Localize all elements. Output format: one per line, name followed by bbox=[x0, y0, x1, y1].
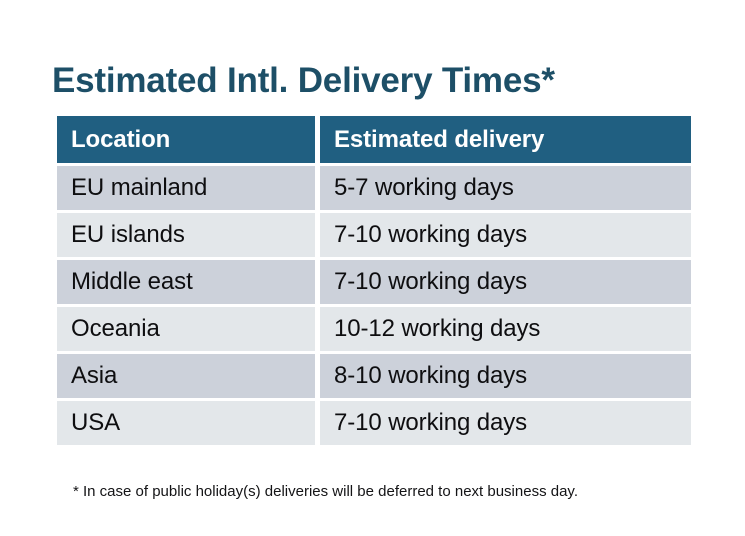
column-header-estimated-delivery: Estimated delivery bbox=[320, 116, 691, 163]
table-row: EU mainland 5-7 working days bbox=[57, 166, 691, 210]
table-row: EU islands 7-10 working days bbox=[57, 213, 691, 257]
page-title: Estimated Intl. Delivery Times* bbox=[52, 59, 555, 103]
cell-location: USA bbox=[57, 401, 315, 445]
table-body: EU mainland 5-7 working days EU islands … bbox=[57, 166, 691, 445]
table-row: Asia 8-10 working days bbox=[57, 354, 691, 398]
table-row: USA 7-10 working days bbox=[57, 401, 691, 445]
estimated-delivery-table: Location Estimated delivery EU mainland … bbox=[52, 113, 696, 448]
table-header-row: Location Estimated delivery bbox=[57, 116, 691, 163]
cell-delivery: 7-10 working days bbox=[320, 401, 691, 445]
cell-location: EU mainland bbox=[57, 166, 315, 210]
footnote-text: * In case of public holiday(s) deliverie… bbox=[73, 482, 578, 502]
cell-delivery: 5-7 working days bbox=[320, 166, 691, 210]
cell-location: Middle east bbox=[57, 260, 315, 304]
table-row: Oceania 10-12 working days bbox=[57, 307, 691, 351]
table-header: Location Estimated delivery bbox=[57, 116, 691, 163]
cell-delivery: 7-10 working days bbox=[320, 213, 691, 257]
cell-delivery: 10-12 working days bbox=[320, 307, 691, 351]
cell-location: Oceania bbox=[57, 307, 315, 351]
delivery-times-page: Estimated Intl. Delivery Times* Location… bbox=[0, 0, 745, 536]
cell-delivery: 7-10 working days bbox=[320, 260, 691, 304]
column-header-location: Location bbox=[57, 116, 315, 163]
table-row: Middle east 7-10 working days bbox=[57, 260, 691, 304]
cell-delivery: 8-10 working days bbox=[320, 354, 691, 398]
cell-location: EU islands bbox=[57, 213, 315, 257]
cell-location: Asia bbox=[57, 354, 315, 398]
